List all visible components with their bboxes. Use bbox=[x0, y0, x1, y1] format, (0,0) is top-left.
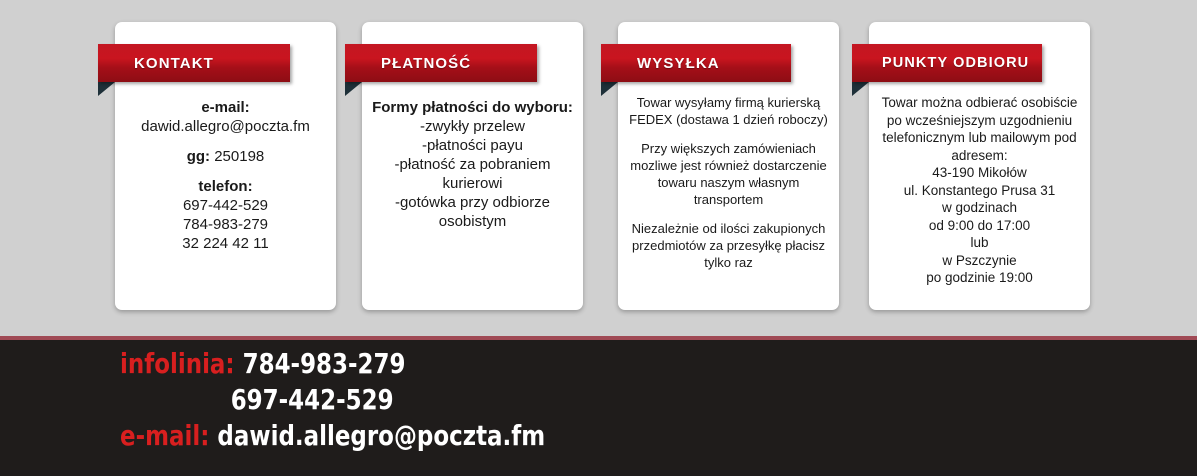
card-ribbon-punkty-odbioru: PUNKTY ODBIORU bbox=[852, 44, 1042, 82]
card-line-phone: 697-442-529 bbox=[125, 196, 326, 215]
card-line: -gotówka przy odbiorze osobistym bbox=[372, 193, 573, 231]
card-body-platnosc: Formy płatności do wyboru: -zwykły przel… bbox=[362, 98, 583, 231]
card-line: -płatności payu bbox=[372, 136, 573, 155]
gg-value: 250198 bbox=[210, 148, 264, 165]
card-line-phone: 784-983-279 bbox=[125, 215, 326, 234]
card-line: w godzinach bbox=[879, 199, 1080, 217]
card-line-spacer bbox=[125, 136, 326, 147]
card-body-wysylka: Towar wysyłamy firmą kurierską FEDEX (do… bbox=[618, 94, 839, 271]
card-ribbon-kontakt: KONTAKT bbox=[98, 44, 290, 82]
card-line: -zwykły przelew bbox=[372, 117, 573, 136]
footer-infolinia-line: infolinia: 784-983-279 bbox=[120, 346, 473, 382]
card-body-kontakt: e-mail: dawid.allegro@poczta.fm gg: 2501… bbox=[115, 98, 336, 253]
footer-email-value: dawid.allegro@poczta.fm bbox=[209, 419, 545, 452]
card-line-hours: od 9:00 do 17:00 bbox=[879, 217, 1080, 235]
card-line-gg: gg: 250198 bbox=[125, 147, 326, 166]
info-card-kontakt: KONTAKT e-mail: dawid.allegro@poczta.fm … bbox=[115, 22, 336, 310]
footer-infolinia-value: 784-983-279 bbox=[235, 347, 406, 380]
card-ribbon-wysylka: WYSYŁKA bbox=[601, 44, 791, 82]
card-ribbon-platnosc: PŁATNOŚĆ bbox=[345, 44, 537, 82]
footer-infolinia-line-2: 697-442-529 bbox=[120, 382, 473, 418]
footer-email-line: e-mail: dawid.allegro@poczta.fm bbox=[120, 418, 473, 454]
ribbon-fold-icon bbox=[345, 82, 362, 96]
card-title-platnosc: PŁATNOŚĆ bbox=[345, 55, 471, 72]
card-line-spacer bbox=[628, 208, 829, 220]
card-line: telefon: bbox=[125, 177, 326, 196]
card-title-punkty-odbioru: PUNKTY ODBIORU bbox=[852, 55, 1029, 71]
card-line: -płatność za pobraniem kurierowi bbox=[372, 155, 573, 193]
card-title-wysylka: WYSYŁKA bbox=[601, 55, 720, 72]
top-panel: KONTAKT e-mail: dawid.allegro@poczta.fm … bbox=[0, 0, 1197, 336]
card-line: Towar można odbierać osobiście po wcześn… bbox=[879, 94, 1080, 164]
card-title-kontakt: KONTAKT bbox=[98, 55, 214, 72]
card-line: Przy większych zamówieniach mozliwe jest… bbox=[628, 140, 829, 208]
card-body-punkty-odbioru: Towar można odbierać osobiście po wcześn… bbox=[869, 94, 1090, 287]
card-line-address: ul. Konstantego Prusa 31 bbox=[879, 182, 1080, 200]
card-line-hours: po godzinie 19:00 bbox=[879, 269, 1080, 287]
gg-label: gg: bbox=[187, 148, 210, 165]
card-line: Niezależnie od ilości zakupionych przedm… bbox=[628, 220, 829, 271]
card-line: Towar wysyłamy firmą kurierską FEDEX (do… bbox=[628, 94, 829, 128]
info-card-wysylka: WYSYŁKA Towar wysyłamy firmą kurierską F… bbox=[618, 22, 839, 310]
card-line: lub bbox=[879, 234, 1080, 252]
card-line-email: dawid.allegro@poczta.fm bbox=[125, 117, 326, 136]
card-line-spacer bbox=[125, 166, 326, 177]
footer-contact-block: infolinia: 784-983-279 697-442-529 e-mai… bbox=[120, 346, 550, 454]
card-line-spacer bbox=[628, 128, 829, 140]
ribbon-fold-icon bbox=[601, 82, 618, 96]
info-card-punkty-odbioru: PUNKTY ODBIORU Towar można odbierać osob… bbox=[869, 22, 1090, 310]
card-line-phone: 32 224 42 11 bbox=[125, 234, 326, 253]
card-line: e-mail: bbox=[125, 98, 326, 117]
info-cards-row: KONTAKT e-mail: dawid.allegro@poczta.fm … bbox=[0, 0, 1197, 336]
ribbon-fold-icon bbox=[852, 82, 869, 96]
card-line: Formy płatności do wyboru: bbox=[372, 98, 573, 117]
card-line-address: 43-190 Mikołów bbox=[879, 164, 1080, 182]
footer-email-label: e-mail: bbox=[120, 419, 209, 452]
ribbon-fold-icon bbox=[98, 82, 115, 96]
footer-infolinia-label: infolinia: bbox=[120, 347, 235, 380]
footer-bar: infolinia: 784-983-279 697-442-529 e-mai… bbox=[0, 340, 1197, 476]
info-card-platnosc: PŁATNOŚĆ Formy płatności do wyboru: -zwy… bbox=[362, 22, 583, 310]
card-line: w Pszczynie bbox=[879, 252, 1080, 270]
